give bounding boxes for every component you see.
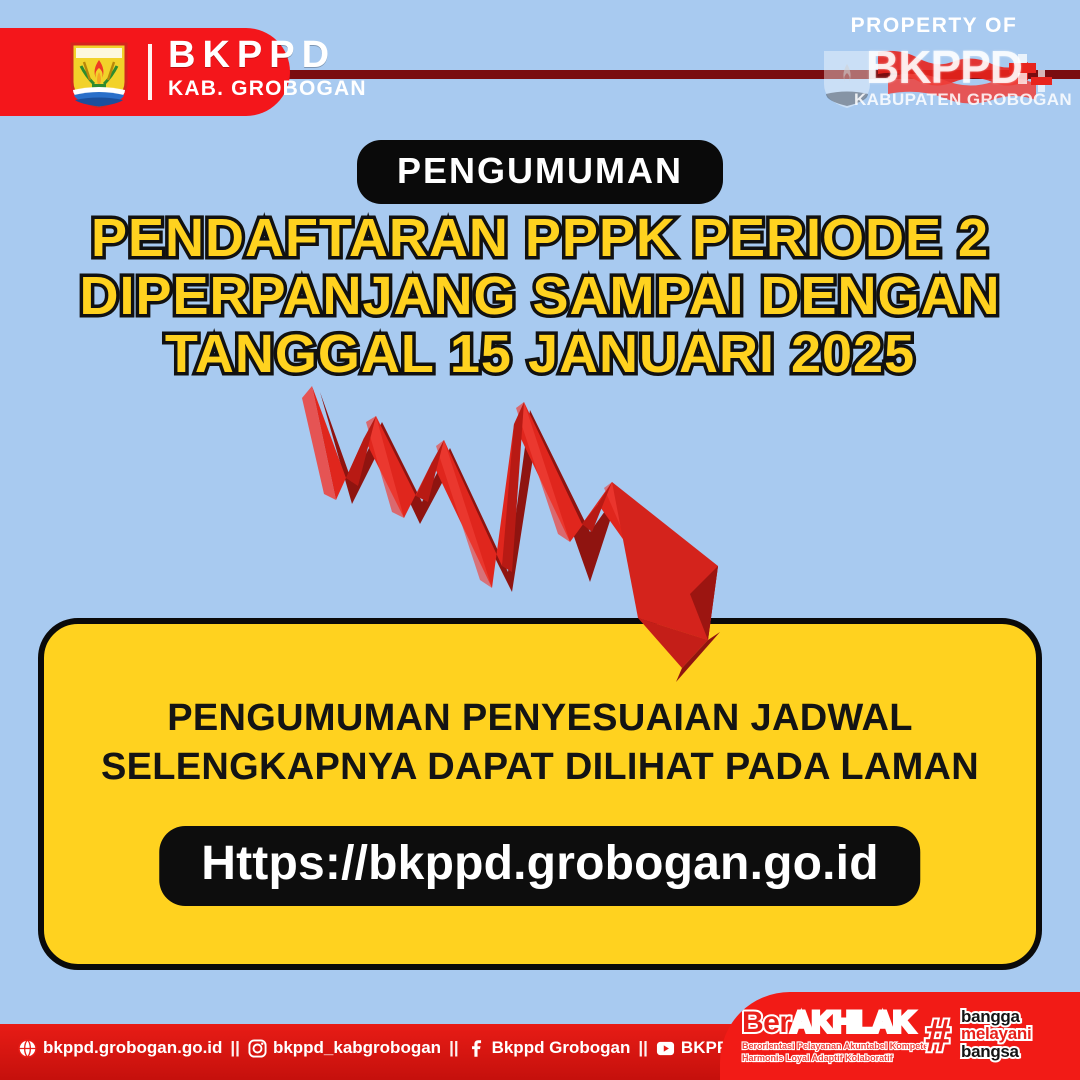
berakhlak-prefix: Ber xyxy=(742,1006,791,1039)
panel-body: PENGUMUMAN PENYESUAIAN JADWAL SELENGKAPN… xyxy=(44,694,1036,791)
headline-line-1: PENDAFTARAN PPPK PERIODE 2 xyxy=(0,210,1080,268)
globe-icon xyxy=(18,1039,37,1058)
declining-zigzag-arrow-icon xyxy=(290,382,770,702)
instagram-icon xyxy=(248,1039,267,1058)
bangga-line-2: melayani xyxy=(961,1025,1031,1042)
bangga-melayani-bangsa-logo: # bangga melayani bangsa xyxy=(925,1006,1065,1068)
headline-line-2: DIPERPANJANG SAMPAI DENGAN xyxy=(0,268,1080,326)
headline: PENDAFTARAN PPPK PERIODE 2 DIPERPANJANG … xyxy=(0,210,1080,383)
header-org-abbr: BKPPD xyxy=(168,36,367,76)
footer-separator-3: || xyxy=(636,1038,650,1058)
announcement-badge-label: PENGUMUMAN xyxy=(397,153,683,189)
facebook-icon xyxy=(467,1039,486,1058)
watermark-region: KABUPATEN GROBOGAN xyxy=(850,90,1076,110)
berakhlak-wordmark: BerAKHLAK xyxy=(742,1008,917,1038)
berakhlak-tagline-line-2: Harmonis Loyal Adaptif Kolaboratif xyxy=(742,1053,917,1065)
panel-body-line-2: SELENGKAPNYA DAPAT DILIHAT PADA LAMAN xyxy=(44,743,1036,792)
announcement-badge: PENGUMUMAN xyxy=(357,140,723,204)
hash-icon: # xyxy=(925,1012,951,1058)
watermark-logo: BKPPD KABUPATEN GROBOGAN xyxy=(810,40,1072,118)
berakhlak-logo: BerAKHLAK Berorientasi Pelayanan Akuntab… xyxy=(742,1008,917,1070)
header-brand-text: BKPPD KAB. GROBOGAN xyxy=(168,36,367,101)
website-url-text[interactable]: Https://bkppd.grobogan.go.id xyxy=(201,840,878,888)
footer-bar: bkppd.grobogan.go.id || bkppd_kabgroboga… xyxy=(0,1024,800,1080)
footer-logo-panel: BerAKHLAK Berorientasi Pelayanan Akuntab… xyxy=(720,992,1080,1080)
header-org-region: KAB. GROBOGAN xyxy=(168,77,367,101)
watermark-property-label: PROPERTY OF xyxy=(810,14,1058,38)
headline-line-3: TANGGAL 15 JANUARI 2025 xyxy=(0,326,1080,384)
footer-link-facebook[interactable]: Bkppd Grobogan xyxy=(492,1038,631,1058)
bangga-lines: bangga melayani bangsa xyxy=(961,1008,1031,1060)
berakhlak-tagline: Berorientasi Pelayanan Akuntabel Kompete… xyxy=(742,1041,917,1064)
youtube-icon xyxy=(656,1039,675,1058)
website-url-pill[interactable]: Https://bkppd.grobogan.go.id xyxy=(159,826,920,906)
berakhlak-suffix: AKHLAK xyxy=(791,1006,915,1039)
footer-link-instagram[interactable]: bkppd_kabgrobogan xyxy=(273,1038,441,1058)
bangga-line-3: bangsa xyxy=(961,1043,1031,1060)
footer-link-website[interactable]: bkppd.grobogan.go.id xyxy=(43,1038,222,1058)
bangga-line-1: bangga xyxy=(961,1008,1031,1025)
poster-canvas: BKPPD KAB. GROBOGAN PROPERTY OF BKPPD KA… xyxy=(0,0,1080,1080)
grobogan-regency-emblem xyxy=(68,38,130,108)
footer-separator-1: || xyxy=(228,1038,242,1058)
footer-separator-2: || xyxy=(447,1038,461,1058)
berakhlak-tagline-line-1: Berorientasi Pelayanan Akuntabel Kompete… xyxy=(742,1041,917,1053)
property-watermark: PROPERTY OF BKPPD KABUPATEN GROBOGAN xyxy=(810,14,1072,122)
watermark-brand: BKPPD xyxy=(866,44,1076,90)
header-divider xyxy=(148,44,152,100)
